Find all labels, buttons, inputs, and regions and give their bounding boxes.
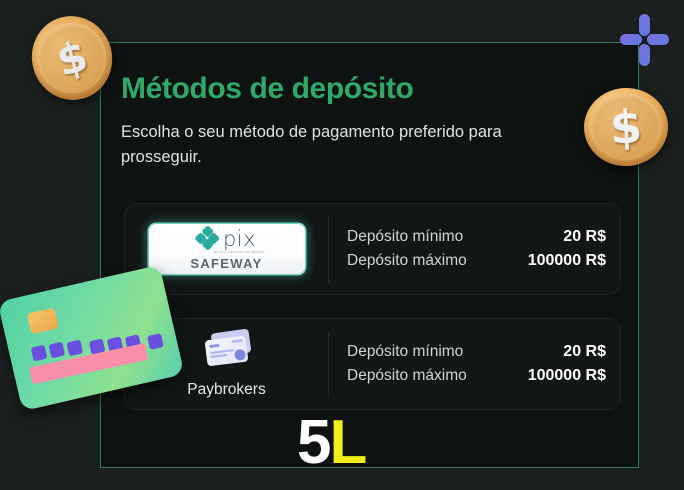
amount-value: 20 R$ xyxy=(563,228,606,246)
method-card-paybrokers[interactable]: Paybrokers Depósito mínimo 20 R$ Depósit… xyxy=(124,318,621,410)
sparkle-plus-icon xyxy=(620,14,668,66)
card-magnetic-stripe xyxy=(29,343,148,384)
amount-value: 100000 R$ xyxy=(528,252,606,270)
pix-diamond-icon xyxy=(197,228,218,249)
amount-label: Depósito mínimo xyxy=(347,228,463,246)
pix-tagline: BANCO CENTRAL DO BRASIL xyxy=(214,250,265,254)
amounts-pix: Depósito mínimo 20 R$ Depósito máximo 10… xyxy=(347,204,606,294)
pix-safeway-label: SAFEWAY xyxy=(190,256,262,271)
gold-coin-large-icon: $ xyxy=(582,86,670,168)
watermark-part-two: L xyxy=(329,408,365,477)
card-divider xyxy=(328,217,329,283)
pix-logo-row: pix xyxy=(197,228,256,249)
panel-heading: Métodos de depósito Escolha o seu método… xyxy=(121,71,601,170)
page-title: Métodos de depósito xyxy=(121,71,601,107)
method-card-pix[interactable]: pix BANCO CENTRAL DO BRASIL SAFEWAY Depó… xyxy=(124,203,621,295)
amount-row: Depósito mínimo 20 R$ xyxy=(347,228,606,246)
deposit-methods-panel: Métodos de depósito Escolha o seu método… xyxy=(100,42,639,468)
amounts-paybrokers: Depósito mínimo 20 R$ Depósito máximo 10… xyxy=(347,319,606,409)
credit-cards-icon xyxy=(201,330,253,372)
amount-row: Depósito máximo 100000 R$ xyxy=(347,367,606,385)
amount-value: 20 R$ xyxy=(563,343,606,361)
amount-value: 100000 R$ xyxy=(528,367,606,385)
amount-label: Depósito máximo xyxy=(347,367,467,385)
amount-label: Depósito máximo xyxy=(347,252,467,270)
page-subtitle: Escolha o seu método de pagamento prefer… xyxy=(121,120,581,170)
coin-dollar-glyph: $ xyxy=(582,86,670,168)
paybrokers-label: Paybrokers xyxy=(187,381,265,399)
watermark-part-one: 5 xyxy=(297,408,329,477)
pix-wordmark: pix xyxy=(223,229,256,249)
card-divider xyxy=(328,332,329,398)
amount-row: Depósito mínimo 20 R$ xyxy=(347,343,606,361)
card-chip-icon xyxy=(27,307,59,334)
screen-root: Métodos de depósito Escolha o seu método… xyxy=(0,0,684,490)
amount-row: Depósito máximo 100000 R$ xyxy=(347,252,606,270)
brand-watermark-5l: 5L xyxy=(297,412,365,474)
amount-label: Depósito mínimo xyxy=(347,343,463,361)
pix-logo-plate: pix BANCO CENTRAL DO BRASIL SAFEWAY xyxy=(149,224,305,274)
